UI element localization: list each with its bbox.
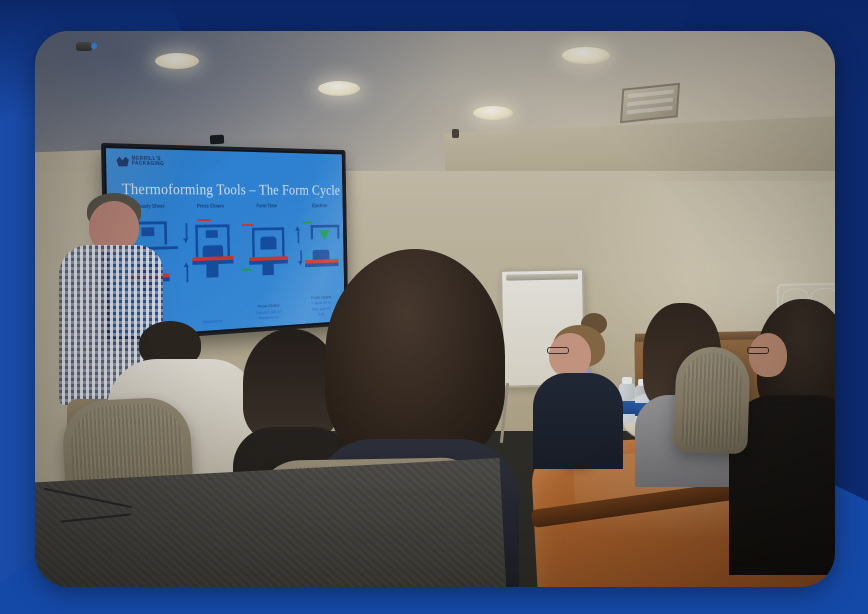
- brand-wordmark: MERRILL'S PACKAGING: [132, 157, 165, 168]
- attendee-6-glasses-icon: [747, 347, 769, 354]
- sprinkler-head-icon: [452, 129, 459, 138]
- panel-2-heading: Press Closes: [182, 204, 238, 210]
- panel-2-caption: Vacuum on: [184, 317, 240, 327]
- panel-3-heading: Form Time: [240, 204, 293, 210]
- attendee-6-head: [749, 333, 787, 377]
- hvac-vent-icon: [620, 83, 680, 124]
- ceiling-light-4: [562, 47, 610, 64]
- easel-clamp: [506, 273, 578, 280]
- attendee-3-hair: [325, 249, 505, 463]
- tv-wall-mount: [210, 135, 224, 145]
- photo-card: MERRILL'S PACKAGING Thermoforming Tools …: [35, 31, 835, 587]
- attendee-4-torso: [533, 373, 623, 469]
- form-cycle-panel-3: Form Time Press Closed Vacuum still on: [240, 204, 295, 325]
- panel-2-caption-line-1: Vacuum on: [184, 317, 240, 327]
- brand-logo: MERRILL'S PACKAGING: [117, 156, 165, 167]
- form-cycle-panel-2: Press Closes Vacuum on: [182, 204, 240, 329]
- attendee-4-head: [549, 333, 591, 377]
- smoke-detector-icon: [76, 42, 92, 51]
- slide-title: Thermoforming Tools – The Form Cycle: [122, 181, 344, 199]
- ceiling-light-3: [473, 106, 513, 120]
- ceiling-light-1: [155, 53, 199, 69]
- brand-name-line-2: PACKAGING: [132, 162, 165, 168]
- panel-3-caption: Press Closed Vacuum still on Pressure on: [242, 302, 295, 322]
- attendee-4-glasses-icon: [547, 347, 569, 354]
- crown-logo-icon: [117, 157, 129, 167]
- decorative-frame: MERRILL'S PACKAGING Thermoforming Tools …: [0, 0, 868, 614]
- ceiling-light-2: [318, 81, 360, 96]
- panel-4-heading: Ejection: [294, 204, 344, 210]
